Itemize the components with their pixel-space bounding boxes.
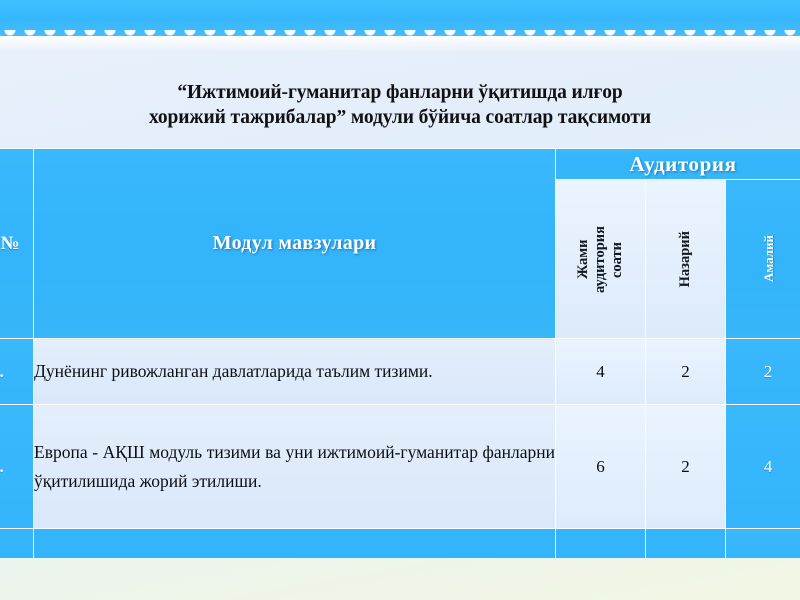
header-cell-practice: Амалий [726, 180, 800, 339]
row-total: 6 [556, 405, 646, 529]
row-number: 1. [0, 339, 34, 405]
row-theory [646, 529, 726, 559]
header-practice-label: Амалий [760, 235, 777, 282]
slide-title-line-1: “Ижтимоий-гуманитар фанларни ўқитишда ил… [60, 80, 740, 105]
table-header-group-row: № Модул мавзулари Аудитория [0, 149, 800, 180]
header-topic-label: Модул мавзулари [213, 232, 377, 254]
header-total-hours-label: Жами аудитория соати [575, 226, 626, 293]
row-practice: 4 [726, 405, 800, 529]
banner-fade [0, 36, 800, 52]
header-theory-rotator: Назарий [646, 180, 725, 338]
slide-title: “Ижтимоий-гуманитар фанларни ўқитишда ил… [0, 80, 800, 130]
hours-table-container: № Модул мавзулари Аудитория Жами аудитор… [0, 148, 800, 558]
header-practice-rotator: Амалий [726, 180, 800, 338]
row-topic [34, 529, 556, 559]
row-number: 2. [0, 405, 34, 529]
row-topic: Дунёнинг ривожланган давлатларида таълим… [34, 339, 556, 405]
hours-distribution-table: № Модул мавзулари Аудитория Жами аудитор… [0, 148, 800, 558]
header-auditorium-label: Аудитория [629, 152, 736, 176]
row-number [0, 529, 34, 559]
row-theory: 2 [646, 339, 726, 405]
header-number-label: № [0, 233, 31, 255]
row-practice [726, 529, 800, 559]
header-cell-auditorium-group: Аудитория [556, 149, 800, 180]
table-row-truncated [0, 529, 800, 559]
row-total [556, 529, 646, 559]
slide-title-line-2: хорижий тажрибалар” модули бўйича соатла… [60, 105, 740, 130]
header-theory-label: Назарий [677, 231, 694, 287]
row-practice: 2 [726, 339, 800, 405]
table-row: 1. Дунёнинг ривожланган давлатларида таъ… [0, 339, 800, 405]
header-total-hours-rotator: Жами аудитория соати [556, 180, 645, 338]
header-cell-theory: Назарий [646, 180, 726, 339]
row-theory: 2 [646, 405, 726, 529]
table-row: 2. Европа - АҚШ модуль тизими ва уни ижт… [0, 405, 800, 529]
row-total: 4 [556, 339, 646, 405]
row-topic: Европа - АҚШ модуль тизими ва уни ижтимо… [34, 405, 556, 529]
header-cell-total-hours: Жами аудитория соати [556, 180, 646, 339]
header-cell-topic: Модул мавзулари [34, 149, 556, 339]
header-cell-number: № [0, 149, 34, 339]
